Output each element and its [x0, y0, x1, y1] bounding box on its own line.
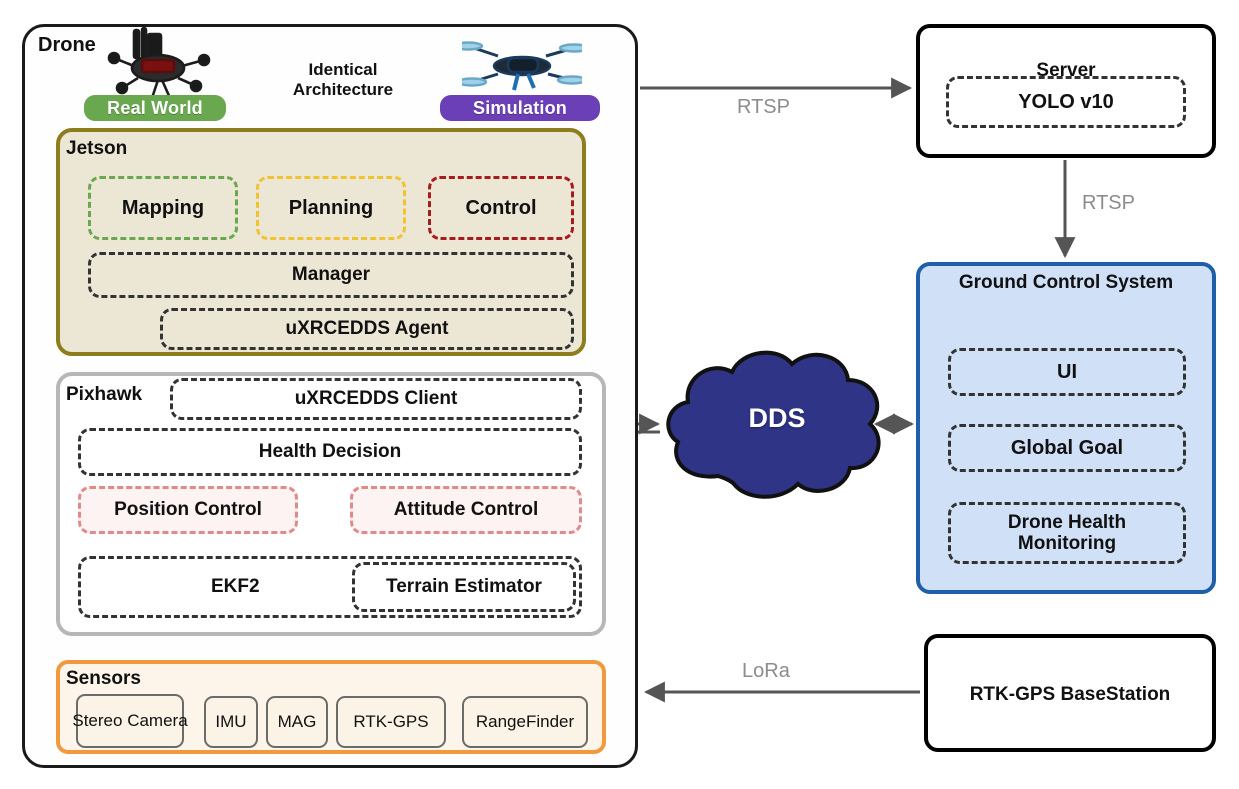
connector-label-rtsp-server-gcs: RTSP — [1082, 192, 1135, 215]
sensors-title: Sensors — [66, 668, 141, 690]
jetson-title: Jetson — [66, 138, 127, 160]
module-terrain-estimator[interactable]: Terrain Estimator — [352, 562, 576, 612]
architecture-diagram: DDS Drone — [0, 0, 1239, 789]
connector-label-lora: LoRa — [742, 660, 790, 683]
module-uxrcedds-client[interactable]: uXRCEDDS Client — [170, 378, 582, 420]
sensor-rangefinder[interactable]: RangeFinder — [462, 696, 588, 748]
module-uxrcedds-agent[interactable]: uXRCEDDS Agent — [160, 308, 574, 350]
sensor-stereo-camera[interactable]: Stereo Camera — [76, 694, 184, 748]
badge-simulation: Simulation — [440, 95, 600, 121]
module-mapping[interactable]: Mapping — [88, 176, 238, 240]
module-drone-health-monitoring[interactable]: Drone Health Monitoring — [948, 502, 1186, 564]
module-control[interactable]: Control — [428, 176, 574, 240]
drone-health-line2: Monitoring — [1018, 533, 1116, 554]
drone-health-line1: Drone Health — [1008, 512, 1126, 533]
sensor-mag[interactable]: MAG — [266, 696, 328, 748]
module-global-goal[interactable]: Global Goal — [948, 424, 1186, 472]
sensor-stereo-line2: Camera — [127, 712, 187, 731]
drone-title: Drone — [38, 34, 96, 57]
real-drone-photo-icon — [104, 22, 220, 102]
identical-line-2: Architecture — [293, 80, 393, 99]
module-position-control[interactable]: Position Control — [78, 486, 298, 534]
dds-cloud — [662, 344, 892, 504]
simulated-drone-photo-icon — [462, 28, 582, 100]
connector-label-rtsp-drone-server: RTSP — [737, 96, 790, 119]
module-manager[interactable]: Manager — [88, 252, 574, 298]
badge-real-world: Real World — [84, 95, 226, 121]
identical-line-1: Identical — [309, 60, 378, 79]
rtk-gps-basestation-container: RTK-GPS BaseStation — [924, 634, 1216, 752]
sensor-stereo-line1: Stereo — [72, 712, 122, 731]
module-ui[interactable]: UI — [948, 348, 1186, 396]
module-yolo-v10[interactable]: YOLO v10 — [946, 76, 1186, 128]
gcs-title: Ground Control System — [916, 272, 1216, 294]
module-attitude-control[interactable]: Attitude Control — [350, 486, 582, 534]
pixhawk-title: Pixhawk — [66, 384, 142, 406]
sensor-rtk-gps[interactable]: RTK-GPS — [336, 696, 446, 748]
sensor-imu[interactable]: IMU — [204, 696, 258, 748]
identical-architecture-label: Identical Architecture — [277, 60, 409, 99]
module-health-decision[interactable]: Health Decision — [78, 428, 582, 476]
basestation-title: RTK-GPS BaseStation — [928, 684, 1212, 706]
module-planning[interactable]: Planning — [256, 176, 406, 240]
